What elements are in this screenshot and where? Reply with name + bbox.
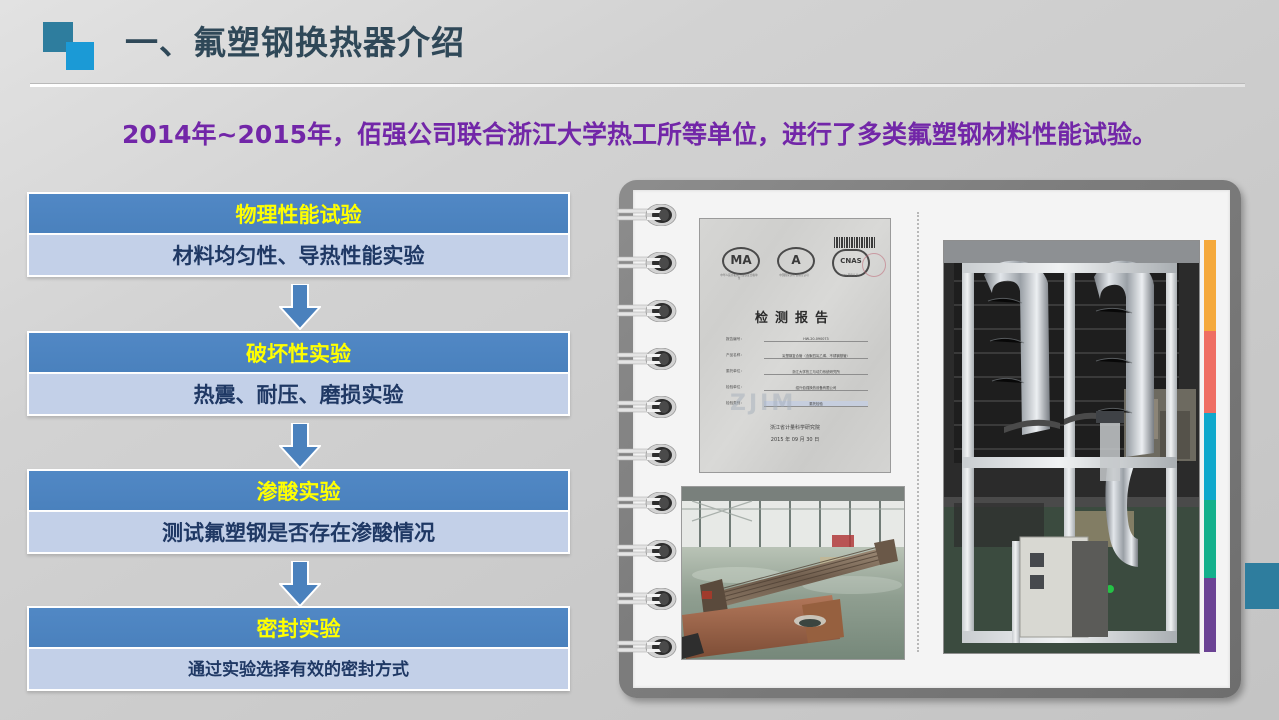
page-dotted-divider xyxy=(917,212,920,652)
spiral-ring xyxy=(617,396,679,418)
decorative-square-light-icon xyxy=(66,42,94,70)
flow-step-2-title: 破坏性实验 xyxy=(27,331,570,374)
cal-certification-caption: 中国国家认可 实验室认可 xyxy=(775,274,813,277)
flow-step-4-desc: 通过实验选择有效的密封方式 xyxy=(27,649,570,691)
spiral-ring xyxy=(617,588,679,610)
color-segment-orange xyxy=(1204,240,1216,331)
cnas-certification-caption: CNAS 国家认可 xyxy=(830,274,868,277)
report-field-row: 报告编号： HW-20-090073 xyxy=(726,337,868,346)
color-accent-bar xyxy=(1204,240,1216,652)
corner-accent-square-icon xyxy=(1245,563,1279,609)
certification-marks-row: MA 中华人民共和国 计量认证合格单位 A 中国国家认可 实验室认可 CNAS … xyxy=(722,247,872,281)
spiral-ring xyxy=(617,300,679,322)
flow-step-1-title: 物理性能试验 xyxy=(27,192,570,235)
cal-certification-icon: A xyxy=(777,247,815,275)
report-field-row: 产品名称： 氟塑钢复合管（含聚四氟乙烯、不锈钢基管） xyxy=(726,353,868,362)
notebook-page: MA 中华人民共和国 计量认证合格单位 A 中国国家认可 实验室认可 CNAS … xyxy=(633,190,1230,688)
spiral-ring xyxy=(617,636,679,658)
ma-certification-caption: 中华人民共和国 计量认证合格单位 xyxy=(720,274,758,281)
report-field-label: 检验单位： xyxy=(726,385,744,390)
title-divider xyxy=(30,83,1245,87)
subtitle-text: 2014年~2015年，佰强公司联合浙江大学热工所等单位，进行了多类氟塑钢材料性… xyxy=(0,115,1279,151)
spiral-ring xyxy=(617,252,679,274)
spiral-ring xyxy=(617,540,679,562)
report-field-value: 浙江大学热工与动力系统研究所 xyxy=(764,369,868,375)
color-segment-cyan xyxy=(1204,413,1216,500)
spiral-ring xyxy=(617,444,679,466)
flow-step-4: 密封实验 通过实验选择有效的密封方式 xyxy=(27,606,570,691)
report-field-value: HW-20-090073 xyxy=(764,337,868,342)
flow-step-3: 渗酸实验 测试氟塑钢是否存在渗酸情况 xyxy=(27,469,570,554)
flow-arrow-3-4-icon xyxy=(279,561,321,607)
spiral-ring xyxy=(617,492,679,514)
spiral-ring xyxy=(617,348,679,370)
photo-tube-bundle xyxy=(681,486,905,660)
slide-header: 一、氟塑钢换热器介绍 xyxy=(0,0,1279,96)
report-field-label: 产品名称： xyxy=(726,353,744,358)
report-issuer: 浙江省计量科学研究院 xyxy=(700,424,890,431)
photo-notebook-panel: MA 中华人民共和国 计量认证合格单位 A 中国国家认可 实验室认可 CNAS … xyxy=(619,180,1241,698)
flow-step-4-title: 密封实验 xyxy=(27,606,570,649)
flow-step-3-desc: 测试氟塑钢是否存在渗酸情况 xyxy=(27,512,570,554)
color-segment-purple xyxy=(1204,578,1216,652)
flow-step-2-desc: 热震、耐压、磨损实验 xyxy=(27,374,570,416)
flow-step-3-title: 渗酸实验 xyxy=(27,469,570,512)
report-field-label: 报告编号： xyxy=(726,337,744,342)
flow-step-2: 破坏性实验 热震、耐压、磨损实验 xyxy=(27,331,570,416)
test-rig-image xyxy=(944,241,1199,653)
color-segment-coral xyxy=(1204,331,1216,413)
spiral-ring xyxy=(617,204,679,226)
page-title: 一、氟塑钢换热器介绍 xyxy=(125,16,465,64)
tube-bundle-image xyxy=(682,487,904,659)
flow-arrow-2-3-icon xyxy=(279,423,321,469)
report-date: 2015 年 09 月 30 日 xyxy=(700,436,890,443)
barcode-icon xyxy=(834,237,876,248)
report-field-value: 氟塑钢复合管（含聚四氟乙烯、不锈钢基管） xyxy=(764,353,868,359)
spiral-binding-icon xyxy=(617,190,679,688)
ma-certification-icon: MA xyxy=(722,247,760,275)
report-field-label: 委托单位： xyxy=(726,369,744,374)
report-title: 检测报告 xyxy=(700,307,890,326)
photo-test-rig xyxy=(943,240,1200,654)
red-seal-stamp-icon xyxy=(862,253,886,277)
test-report-sheet: MA 中华人民共和国 计量认证合格单位 A 中国国家认可 实验室认可 CNAS … xyxy=(700,219,890,472)
flow-step-1: 物理性能试验 材料均匀性、导热性能实验 xyxy=(27,192,570,277)
flow-arrow-1-2-icon xyxy=(279,284,321,330)
experiment-flow-chart: 物理性能试验 材料均匀性、导热性能实验 破坏性实验 热震、耐压、磨损实验 渗酸实… xyxy=(27,192,570,697)
flow-step-1-desc: 材料均匀性、导热性能实验 xyxy=(27,235,570,277)
report-watermark: ZJIM xyxy=(730,391,796,416)
report-field-row: 委托单位： 浙江大学热工与动力系统研究所 xyxy=(726,369,868,378)
photo-test-report: MA 中华人民共和国 计量认证合格单位 A 中国国家认可 实验室认可 CNAS … xyxy=(699,218,891,473)
color-segment-teal xyxy=(1204,500,1216,578)
